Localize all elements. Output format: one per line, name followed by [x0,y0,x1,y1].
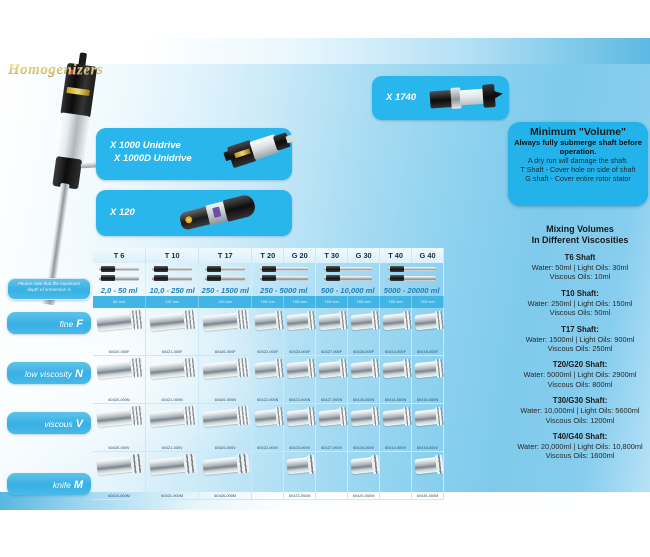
shaft-image [254,409,281,427]
mixing-volume-title-4: T30/G30 Shaft: [512,396,648,406]
row-label-knife-code: M [74,479,83,491]
mixing-volume-line-1-0: Water: 50ml | Light Oils: 30ml [512,263,648,272]
shaft-image [286,457,313,475]
part-number: 60428-000N [353,398,374,402]
volume-range-label: 2,0 - 50 ml [101,286,138,295]
mixing-volume-line-1-1: Water: 250ml | Light Oils: 150ml [512,299,648,308]
minimum-volume-line-1: A dry run will damage the shaft. [512,156,644,165]
mixing-volume-title-3: T20/G20 Shaft: [512,360,648,370]
poster-canvas: Homogenizers X 1740 X 1000 Unidrive X 10… [0,0,650,557]
mixing-volume-title-1: T10 Shaft: [512,289,648,299]
mixing-volumes-heading-2: In Different Viscosities [512,235,648,246]
shaft-image [350,457,377,475]
dimension-cell-6: 185 mm [348,296,380,308]
table-cell-knife-t17[interactable]: 60426-000M [199,452,252,500]
mixing-volume-title-2: T17 Shaft: [512,325,648,335]
part-number: 60426-000M [214,494,236,498]
table-row-viscous: 60420-000V60421-000V60426-000V60422-000V… [93,404,508,452]
table-cell-fine-t20[interactable]: 60422-000F [252,308,284,356]
mixing-volume-line-2-5: Viscous Oils: 1600ml [512,451,648,460]
shaft-image [286,409,313,427]
callout-x120-label: X 120 [110,207,135,219]
shaft-profile-icon [99,267,139,271]
shaft-image [96,408,141,427]
mixing-volume-line-1-5: Water: 20,000ml | Light Oils: 10,800ml [512,442,648,451]
table-cell-fine-t40[interactable]: 60414-000F [380,308,412,356]
shaft-image [150,312,195,331]
table-cell-knife-g20[interactable]: 60423-000M [284,452,316,500]
part-number: 60426-000F [215,350,236,354]
mixing-volume-line-2-0: Viscous Oils: 10ml [512,272,648,281]
shaft-image [350,409,377,427]
table-cell-knife-t6[interactable]: 60420-000M [93,452,146,500]
shaft-profile-icon [152,276,192,281]
shaft-image [414,409,441,427]
shaft-image [96,456,141,475]
shaft-image [286,361,313,379]
part-number: 60426-000N [215,398,236,402]
shaft-image [414,313,441,331]
shaft-image [318,409,345,427]
table-row-low-viscosity: 60420-000N60421-000N60426-000N60422-000N… [93,356,508,404]
volume-range-cell-2: 250 - 1500 ml [199,263,252,296]
table-dimension-row: 56 mm110 mm130 mm155 mm155 mm155 mm185 m… [93,296,508,308]
mixing-volume-line-1-4: Water: 10,000ml | Light Oils: 5600ml [512,406,648,415]
part-number: 60415-000F [417,350,438,354]
shaft-image [350,361,377,379]
table-header-cell-t20: T 20 [252,248,284,263]
table-cell-low-viscosity-g20[interactable]: 60423-000N [284,356,316,404]
shaft-image [150,360,195,379]
table-cell-low-viscosity-g40[interactable]: 60415-000N [412,356,444,404]
table-cell-low-viscosity-t17[interactable]: 60426-000N [199,356,252,404]
table-row-knife: 60420-000M60421-000M60426-000M60423-000M… [93,452,508,500]
mixing-volumes-panel: Mixing Volumes In Different Viscosities … [512,224,648,461]
part-number: 60427-000N [321,398,342,402]
table-cell-viscous-t30[interactable]: 60427-000V [316,404,348,452]
shaft-image [318,361,345,379]
mixing-volume-line-2-1: Viscous Oils: 50ml [512,308,648,317]
table-cell-knife-t20[interactable] [252,452,284,500]
part-number: 60423-000F [289,350,310,354]
shaft-image [286,313,313,331]
minimum-volume-title: Minimum "Volume" [512,126,644,138]
minimum-volume-line-2: T Shaft - Cover hole on side of shaft [512,165,644,174]
mixing-volume-line-2-4: Viscous Oils: 1200ml [512,416,648,425]
part-number: 60420-000M [108,494,130,498]
shaft-image [382,409,409,427]
mixing-volume-block-3: T20/G20 Shaft:Water: 5000ml | Light Oils… [512,360,648,389]
dimension-cell-3: 155 mm [252,296,284,308]
volume-range-cell-5: 5000 - 20000 ml [380,263,444,296]
part-number: 60414-000N [385,398,406,402]
shaft-profile-icon [205,267,245,271]
shaft-image [254,361,281,379]
shaft-image [203,408,248,427]
row-label-low-viscosity-code: N [75,368,83,380]
table-cell-knife-g30[interactable]: 60429-000M [348,452,380,500]
part-number: 60414-000V [385,446,406,450]
part-number: 60426-000V [215,446,236,450]
shaft-image [150,408,195,427]
shaft-image [203,456,248,475]
part-number: 60427-000V [321,446,342,450]
part-number: 60423-000V [289,446,310,450]
dimension-cell-8: 185 mm [412,296,444,308]
dimension-cell-1: 110 mm [146,296,199,308]
shaft-image [382,361,409,379]
part-number: 60420-000F [109,350,130,354]
row-label-fine-name: fine [60,319,74,329]
mixing-volume-block-5: T40/G40 Shaft:Water: 20,000ml | Light Oi… [512,432,648,461]
volume-range-cell-3: 250 - 5000 ml [252,263,316,296]
mixing-volumes-heading-1: Mixing Volumes [512,224,648,235]
table-header-cell-t30: T 30 [316,248,348,263]
volume-range-label: 250 - 5000 ml [260,286,307,295]
shaft-image [203,312,248,331]
table-cell-fine-t10[interactable]: 60421-000F [146,308,199,356]
shaft-image [382,313,409,331]
table-cell-low-viscosity-t6[interactable]: 60420-000N [93,356,146,404]
row-label-viscous-code: V [76,418,83,430]
shaft-profile-icon [99,276,139,281]
part-number: 60427-000F [321,350,342,354]
shaft-image [203,360,248,379]
mixing-volume-block-2: T17 Shaft:Water: 1500ml | Light Oils: 90… [512,325,648,354]
part-number: 60420-000N [108,398,129,402]
row-label-low-viscosity[interactable]: low viscosityN [7,362,91,384]
part-number: 60421-000M [161,494,183,498]
dimension-cell-2: 130 mm [199,296,252,308]
minimum-volume-subtitle: Always fully submerge shaft before opera… [512,139,644,156]
row-label-viscous[interactable]: viscousV [7,412,91,434]
shaft-image [96,312,141,331]
table-cell-fine-g40[interactable]: 60415-000F [412,308,444,356]
table-header-cell-g20: G 20 [284,248,316,263]
table-header-cell-t40: T 40 [380,248,412,263]
immersion-depth-note: Please note that the maximum depth of im… [7,278,91,300]
table-row-fine: 60420-000F60421-000F60426-000F60422-000F… [93,308,508,356]
table-header-row: T 6T 10T 17T 20G 20T 30G 30T 40G 40 [93,248,508,263]
part-number: 60421-000F [162,350,183,354]
table-cell-viscous-t40[interactable]: 60414-000V [380,404,412,452]
table-cell-knife-t10[interactable]: 60421-000M [146,452,199,500]
part-number: 60422-000N [257,398,278,402]
shaft-image [96,360,141,379]
part-number: 60428-000V [353,446,374,450]
volume-range-cell-0: 2,0 - 50 ml [93,263,146,296]
table-header-cell-g40: G 40 [412,248,444,263]
volume-range-label: 10,0 - 250 ml [150,286,195,295]
mixing-volume-block-1: T10 Shaft:Water: 250ml | Light Oils: 150… [512,289,648,318]
part-number: 60415-000N [417,398,438,402]
callout-x1740-label: X 1740 [386,92,416,104]
table-header-cell-t6: T 6 [93,248,146,263]
table-cell-viscous-g30[interactable]: 60428-000V [348,404,380,452]
part-number: 60421-000N [162,398,183,402]
shaft-profile-icon [205,276,245,281]
row-label-low-viscosity-name: low viscosity [25,369,72,379]
table-cell-low-viscosity-t40[interactable]: 60414-000N [380,356,412,404]
shaft-image [414,457,441,475]
page-title: Homogenizers [8,62,103,79]
dimension-cell-5: 155 mm [316,296,348,308]
callout-x1000-label: X 1000 Unidrive [110,140,181,152]
volume-range-label: 5000 - 20000 ml [384,286,440,295]
table-header-cell-t17: T 17 [199,248,252,263]
x1740-device-illustration [429,82,503,115]
mixing-volume-block-4: T30/G30 Shaft:Water: 10,000ml | Light Oi… [512,396,648,425]
shaft-image [414,361,441,379]
table-cell-fine-t6[interactable]: 60420-000F [93,308,146,356]
table-cell-viscous-t10[interactable]: 60421-000V [146,404,199,452]
dimension-cell-4: 155 mm [284,296,316,308]
shaft-image [254,313,281,331]
part-number: 60429-000M [353,494,375,498]
mixing-volume-line-1-2: Water: 1500ml | Light Oils: 900ml [512,335,648,344]
table-cell-viscous-g40[interactable]: 60415-000V [412,404,444,452]
background-bottom [0,510,650,557]
part-number: 60422-000F [257,350,278,354]
part-number: 60435-000M [417,494,439,498]
table-cell-viscous-t6[interactable]: 60420-000V [93,404,146,452]
shaft-image [150,456,195,475]
mixing-volumes-list: T6 ShaftWater: 50ml | Light Oils: 30mlVi… [512,253,648,461]
shaft-comparison-table: T 6T 10T 17T 20G 20T 30G 30T 40G 40 2,0 … [93,248,508,500]
part-number: 60422-000V [257,446,278,450]
mixing-volume-title-5: T40/G40 Shaft: [512,432,648,442]
table-cell-knife-t40[interactable] [380,452,412,500]
shaft-profile-icon [260,267,308,271]
volume-range-cell-4: 500 - 10,000 ml [316,263,380,296]
dimension-cell-0: 56 mm [93,296,146,308]
mixing-volume-line-1-3: Water: 5000ml | Light Oils: 2900ml [512,370,648,379]
table-cell-viscous-g20[interactable]: 60423-000V [284,404,316,452]
table-header-cell-t10: T 10 [146,248,199,263]
table-cell-low-viscosity-t20[interactable]: 60422-000N [252,356,284,404]
row-label-knife-name: knife [53,480,71,490]
minimum-volume-line-3: G shaft - Cover entire rotor stator [512,174,644,183]
volume-range-label: 500 - 10,000 ml [321,286,375,295]
row-label-knife[interactable]: knifeM [7,473,91,495]
mixing-volume-line-2-2: Viscous Oils: 250ml [512,344,648,353]
table-cell-viscous-t17[interactable]: 60426-000V [199,404,252,452]
table-header-cell-g30: G 30 [348,248,380,263]
dimension-cell-7: 185 mm [380,296,412,308]
row-label-fine-code: F [76,318,83,330]
part-number: 60423-000M [289,494,311,498]
table-cell-fine-g30[interactable]: 60428-000F [348,308,380,356]
table-cell-fine-t30[interactable]: 60427-000F [316,308,348,356]
part-number: 60415-000V [417,446,438,450]
shaft-profile-icon [388,267,436,271]
table-volume-range-row: 2,0 - 50 ml10,0 - 250 ml250 - 1500 ml250… [93,263,508,296]
part-number: 60414-000F [385,350,406,354]
table-cell-knife-g40[interactable]: 60435-000M [412,452,444,500]
volume-range-label: 250 - 1500 ml [202,286,249,295]
mixing-volume-block-0: T6 ShaftWater: 50ml | Light Oils: 30mlVi… [512,253,648,282]
table-cell-fine-t17[interactable]: 60426-000F [199,308,252,356]
row-label-fine[interactable]: fineF [7,312,91,334]
shaft-profile-icon [388,276,436,281]
table-cell-fine-g20[interactable]: 60423-000F [284,308,316,356]
shaft-image [350,313,377,331]
part-number: 60428-000F [353,350,374,354]
shaft-profile-icon [152,267,192,271]
minimum-volume-panel: Minimum "Volume" Always fully submerge s… [508,122,648,206]
shaft-image [318,313,345,331]
table-cell-knife-t30[interactable] [316,452,348,500]
row-label-viscous-name: viscous [44,419,72,429]
shaft-profile-icon [260,276,308,281]
mixing-volume-title-0: T6 Shaft [512,253,648,263]
volume-range-cell-1: 10,0 - 250 ml [146,263,199,296]
table-cell-low-viscosity-t30[interactable]: 60427-000N [316,356,348,404]
table-cell-low-viscosity-t10[interactable]: 60421-000N [146,356,199,404]
mixing-volume-line-2-3: Viscous Oils: 800ml [512,380,648,389]
shaft-profile-icon [324,267,372,271]
table-cell-low-viscosity-g30[interactable]: 60428-000N [348,356,380,404]
part-number: 60421-000V [162,446,183,450]
shaft-profile-icon [324,276,372,281]
part-number: 60420-000V [109,446,130,450]
callout-x1000d-label: X 1000D Unidrive [114,153,192,165]
part-number: 60423-000N [289,398,310,402]
table-cell-viscous-t20[interactable]: 60422-000V [252,404,284,452]
